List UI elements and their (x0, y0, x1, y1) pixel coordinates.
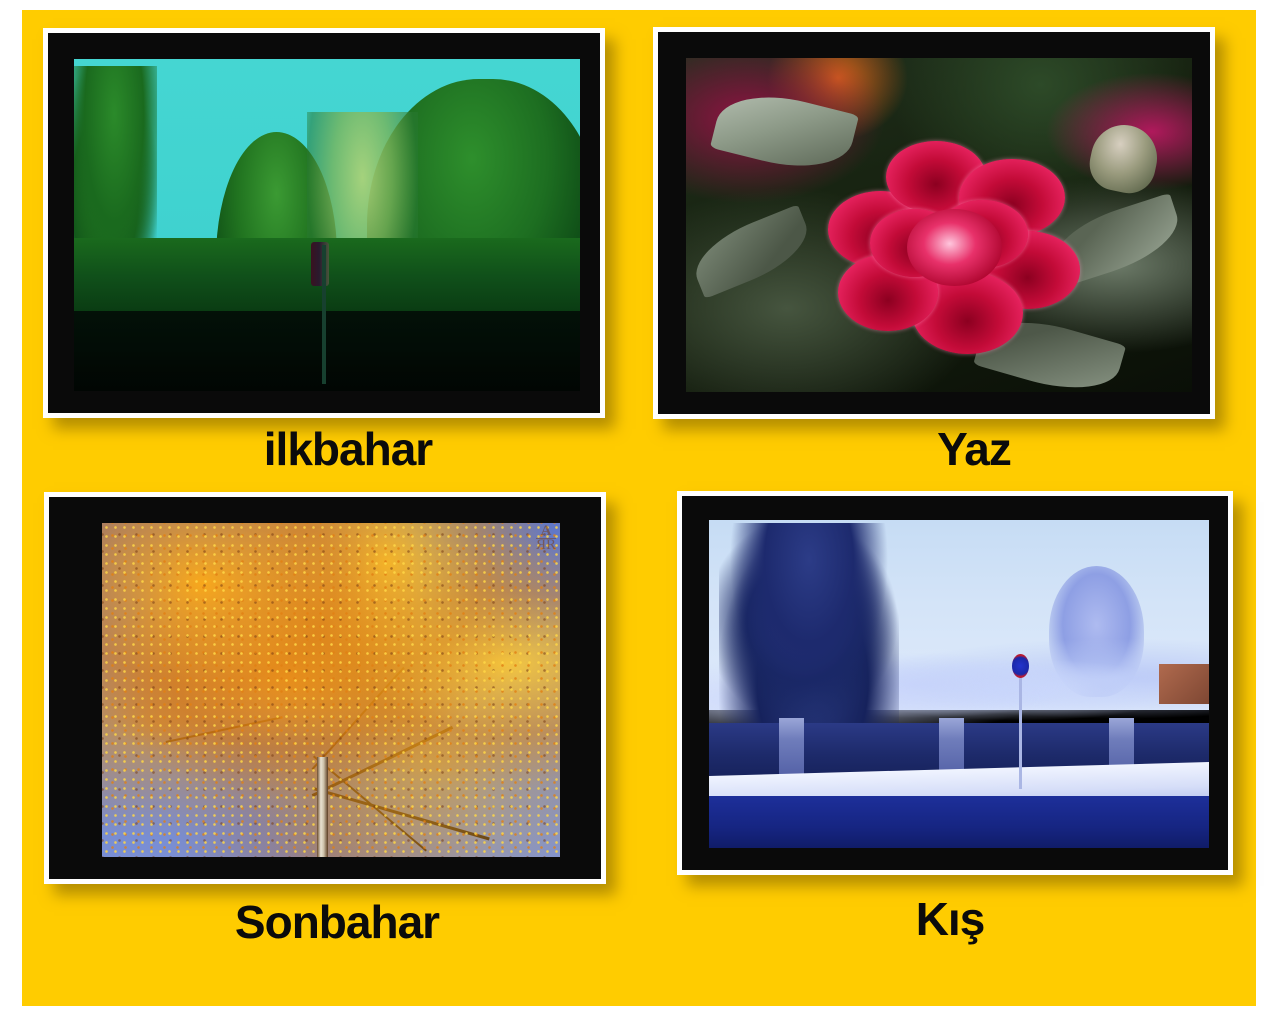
caption-spring: ilkbahar (208, 422, 488, 476)
autumn-leaf-texture (102, 523, 560, 857)
winter-house-roof (1159, 664, 1209, 703)
photo-frame-spring[interactable] (43, 28, 605, 418)
summer-carnation-bloom (823, 131, 1086, 358)
spring-sign-head (311, 242, 329, 286)
caption-winter: Kış (850, 892, 1050, 946)
winter-road (709, 796, 1209, 848)
spring-sign-pole (322, 245, 326, 384)
spring-ground (74, 311, 580, 391)
caption-summer: Yaz (884, 422, 1064, 476)
autumn-birch-trunk (317, 757, 328, 857)
photo-frame-winter[interactable] (677, 491, 1233, 875)
photo-frame-autumn[interactable]: A ЯR (44, 492, 606, 884)
spring-garden-photo (74, 59, 580, 391)
summer-carnation-photo (686, 58, 1192, 392)
seasons-poster: ilkbahar Yaz (22, 10, 1256, 1006)
autumn-birch-photo: A ЯR (102, 523, 560, 857)
winter-sign-pole (1019, 664, 1022, 789)
autumn-watermark: A ЯR (536, 525, 556, 552)
photo-frame-summer[interactable] (653, 27, 1215, 419)
winter-snow-street-photo (709, 520, 1209, 848)
winter-spruce-tree (719, 523, 899, 726)
caption-autumn: Sonbahar (177, 895, 497, 949)
watermark-line-2: ЯR (536, 537, 556, 553)
